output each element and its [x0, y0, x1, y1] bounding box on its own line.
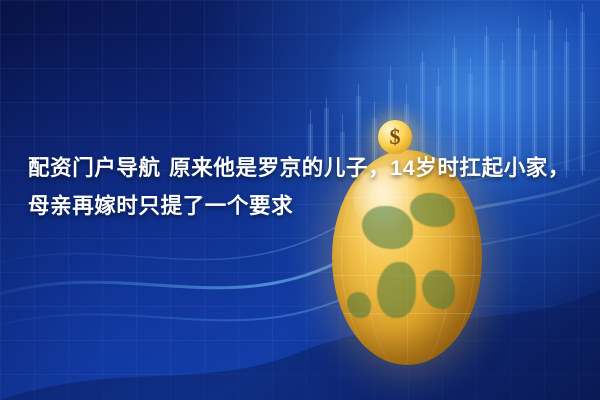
headline: 配资门户导航 原来他是罗京的儿子，14岁时扛起小家，母亲再嫁时只提了一个要求 [0, 150, 600, 225]
site-name: 配资门户导航 [28, 156, 161, 180]
promo-banner: $ 配资门户导航 原来他是罗京的儿子，14岁时扛起小家，母亲再嫁时只提了一个要求 [0, 0, 600, 400]
dollar-symbol: $ [390, 126, 401, 148]
dollar-coin: $ [378, 120, 412, 154]
